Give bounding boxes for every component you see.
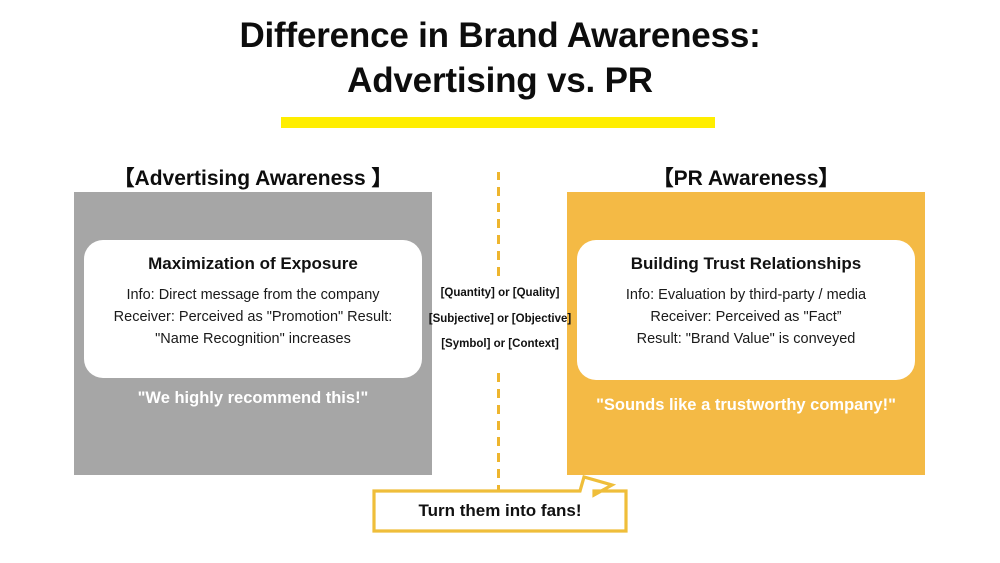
pr-column-heading: 【PR Awareness】 [567, 162, 925, 192]
pr-panel: Building Trust Relationships Info: Evalu… [567, 192, 925, 475]
pr-card-line-1: Info: Evaluation by third-party / media [589, 285, 903, 307]
advertising-card-title: Maximization of Exposure [96, 254, 410, 274]
advertising-card-line-3: "Name Recognition" increases [96, 329, 410, 351]
pr-card: Building Trust Relationships Info: Evalu… [577, 240, 915, 380]
advertising-column-heading: 【Advertising Awareness 】 [74, 162, 432, 192]
pr-card-body: Info: Evaluation by third-party / media … [589, 285, 903, 350]
comparison-label-2: [Subjective] or [Objective] [415, 314, 585, 326]
center-divider-upper [497, 172, 500, 282]
advertising-panel: Maximization of Exposure Info: Direct me… [74, 192, 432, 475]
advertising-card: Maximization of Exposure Info: Direct me… [84, 240, 422, 378]
page-title: Difference in Brand Awareness: Advertisi… [0, 14, 1000, 104]
pr-card-line-2: Receiver: Perceived as "Fact” [589, 307, 903, 329]
advertising-card-line-2: Receiver: Perceived as "Promotion" Resul… [96, 307, 410, 329]
advertising-quote: "We highly recommend this!" [74, 389, 432, 408]
title-line-2: Advertising vs. PR [0, 59, 1000, 104]
pr-quote: "Sounds like a trustworthy company!" [567, 396, 925, 415]
callout-text: Turn them into fans! [372, 501, 628, 521]
advertising-card-line-1: Info: Direct message from the company [96, 285, 410, 307]
pr-card-line-3: Result: "Brand Value" is conveyed [589, 329, 903, 351]
comparison-labels: [Quantity] or [Quality] [Subjective] or … [415, 288, 585, 351]
pr-card-title: Building Trust Relationships [589, 254, 903, 274]
advertising-card-body: Info: Direct message from the company Re… [96, 285, 410, 350]
callout-box: Turn them into fans! [372, 489, 628, 533]
slide-canvas: Difference in Brand Awareness: Advertisi… [0, 0, 1000, 563]
center-divider-lower [497, 368, 500, 490]
title-underline-bar [281, 117, 715, 128]
comparison-label-1: [Quantity] or [Quality] [415, 288, 585, 300]
title-line-1: Difference in Brand Awareness: [0, 14, 1000, 59]
comparison-label-3: [Symbol] or [Context] [415, 339, 585, 351]
